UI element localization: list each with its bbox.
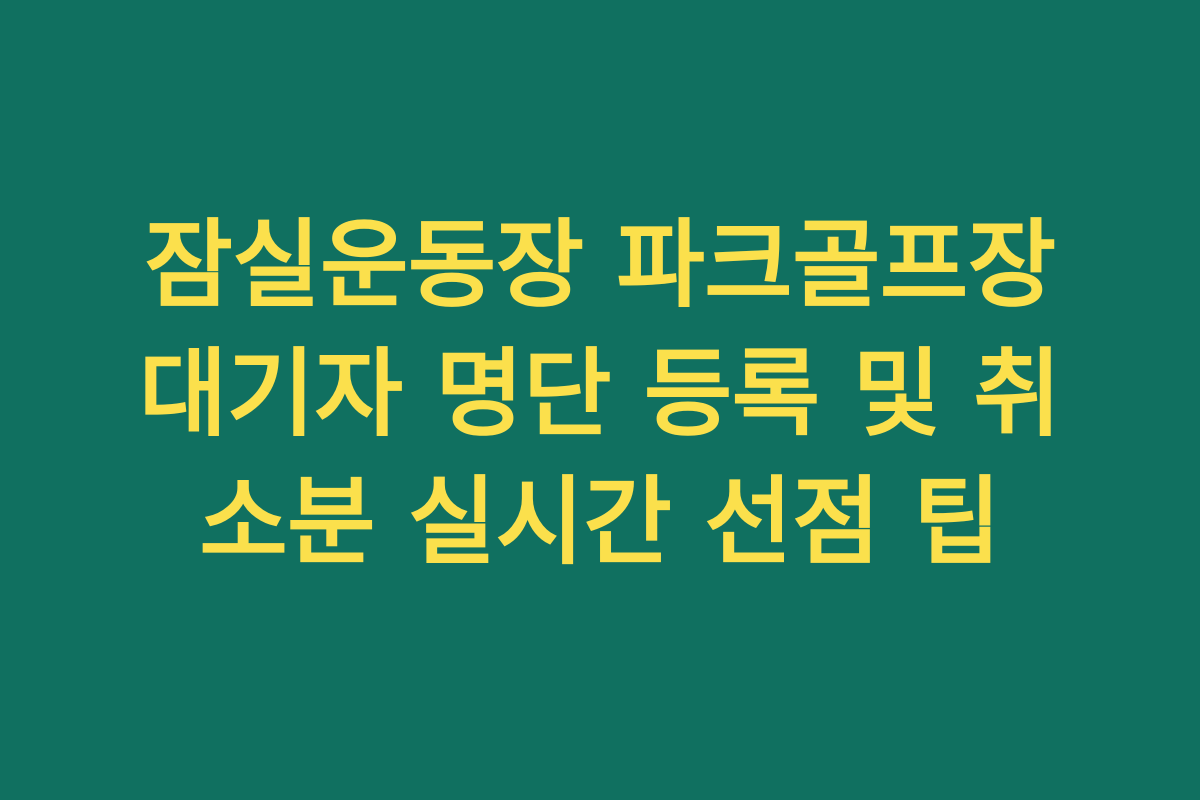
headline-line-2: 대기자 명단 등록 및 취 — [70, 330, 1130, 459]
headline-text-block: 잠실운동장 파크골프장 대기자 명단 등록 및 취 소분 실시간 선점 팁 — [70, 201, 1130, 587]
headline-line-1: 잠실운동장 파크골프장 — [70, 201, 1130, 330]
banner-canvas: 잠실운동장 파크골프장 대기자 명단 등록 및 취 소분 실시간 선점 팁 — [0, 0, 1200, 800]
headline-line-3: 소분 실시간 선점 팁 — [70, 458, 1130, 587]
